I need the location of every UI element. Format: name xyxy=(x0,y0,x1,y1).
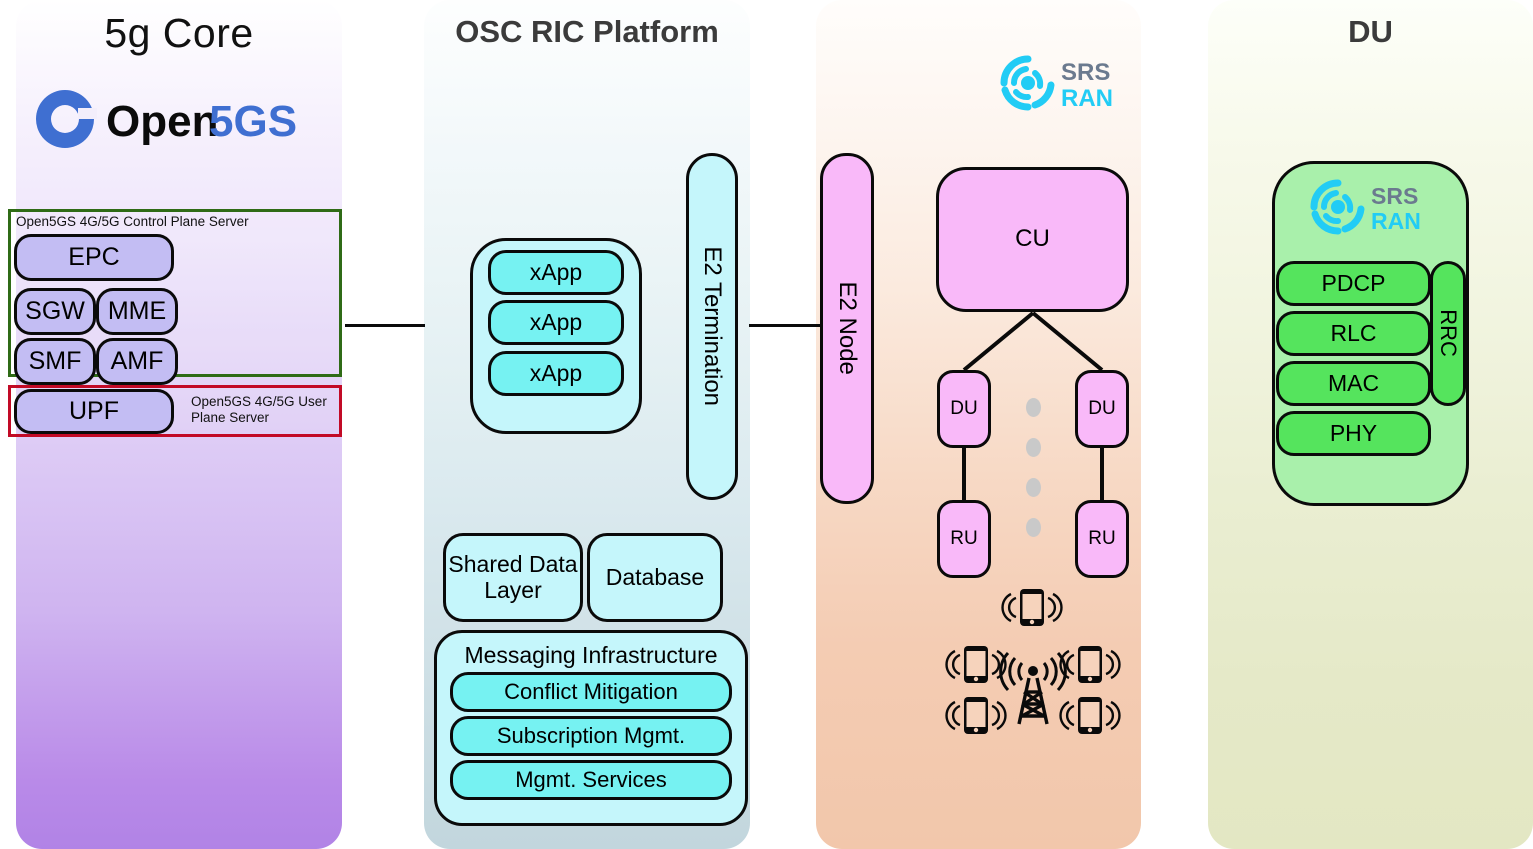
ru-block-left[interactable]: RU xyxy=(937,500,991,578)
network-function-smf[interactable]: SMF xyxy=(14,338,96,385)
ellipsis-dot xyxy=(1026,478,1041,497)
connector-ric-to-ran xyxy=(749,324,821,327)
diagram-canvas: 5g Core Open 5GS Open5GS 4G/5G Control P… xyxy=(0,0,1533,849)
network-function-upf[interactable]: UPF xyxy=(14,389,174,434)
control-plane-server-label: Open5GS 4G/5G Control Plane Server xyxy=(16,214,249,229)
conflict-mitigation-block[interactable]: Conflict Mitigation xyxy=(450,672,732,712)
ellipsis-dot xyxy=(1026,438,1041,457)
du-block-right[interactable]: DU xyxy=(1075,370,1129,448)
protocol-layer-pdcp[interactable]: PDCP xyxy=(1276,261,1431,306)
cu-block[interactable]: CU xyxy=(936,167,1129,312)
panel-title-5g-core: 5g Core xyxy=(16,10,342,57)
du-block-left[interactable]: DU xyxy=(937,370,991,448)
shared-data-layer-block[interactable]: Shared Data Layer xyxy=(443,533,583,622)
protocol-layer-phy[interactable]: PHY xyxy=(1276,411,1431,456)
user-plane-server-label: Open5GS 4G/5G User Plane Server xyxy=(191,394,339,427)
ellipsis-dot xyxy=(1026,398,1041,417)
e2-node-label: E2 Node xyxy=(834,282,860,375)
connector-core-to-ric xyxy=(345,324,425,327)
ru-block-right[interactable]: RU xyxy=(1075,500,1129,578)
e2-node-block[interactable]: E2 Node xyxy=(820,153,874,504)
rrc-label: RRC xyxy=(1436,310,1460,358)
xapp-3[interactable]: xApp xyxy=(488,351,624,396)
e2-termination-block[interactable]: E2 Termination xyxy=(686,153,738,500)
network-function-sgw[interactable]: SGW xyxy=(14,288,96,335)
ellipsis-dot xyxy=(1026,518,1041,537)
panel-title-osc-ric: OSC RIC Platform xyxy=(424,14,750,50)
network-function-mme[interactable]: MME xyxy=(96,288,178,335)
protocol-layer-rlc[interactable]: RLC xyxy=(1276,311,1431,356)
database-block[interactable]: Database xyxy=(587,533,723,622)
mgmt-services-block[interactable]: Mgmt. Services xyxy=(450,760,732,800)
e2-termination-label: E2 Termination xyxy=(699,247,725,407)
protocol-layer-mac[interactable]: MAC xyxy=(1276,361,1431,406)
xapp-2[interactable]: xApp xyxy=(488,300,624,345)
network-function-epc[interactable]: EPC xyxy=(14,234,174,281)
protocol-layer-rrc[interactable]: RRC xyxy=(1430,261,1466,406)
xapp-1[interactable]: xApp xyxy=(488,250,624,295)
panel-title-du: DU xyxy=(1208,14,1533,50)
subscription-mgmt-block[interactable]: Subscription Mgmt. xyxy=(450,716,732,756)
network-function-amf[interactable]: AMF xyxy=(96,338,178,385)
